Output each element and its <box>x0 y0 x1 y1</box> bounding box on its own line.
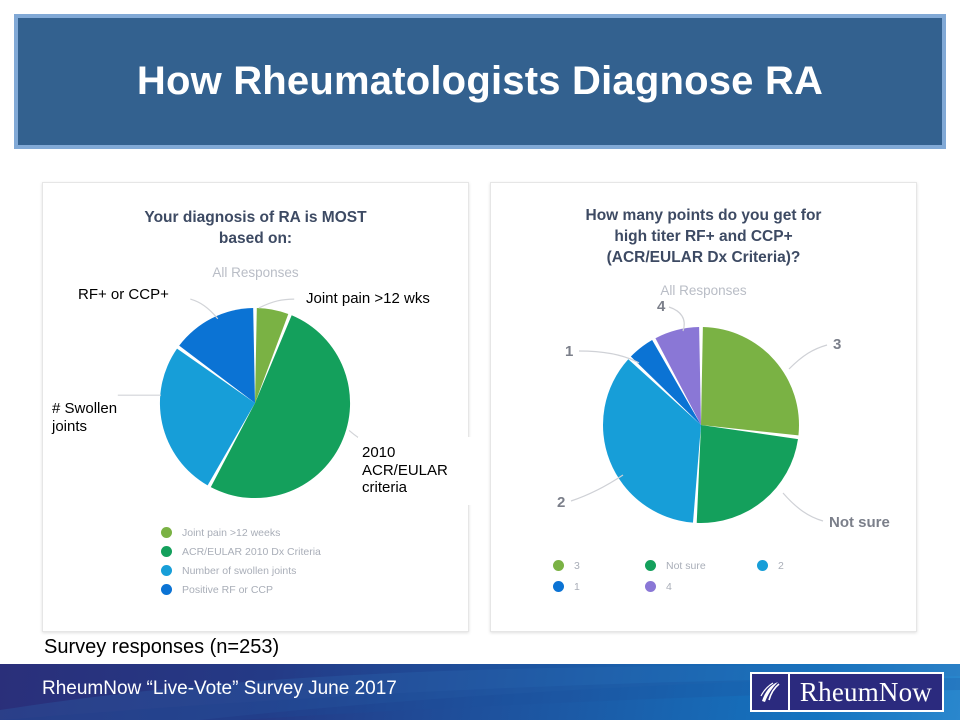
pie-slice <box>701 327 799 435</box>
legend-item-label: Joint pain >12 weeks <box>182 527 280 539</box>
legend-item: Number of swollen joints <box>161 561 321 580</box>
legend-item-label: ACR/EULAR 2010 Dx Criteria <box>182 546 321 558</box>
legend-item: Not sure <box>645 555 757 576</box>
annotation-joint-pain: Joint pain >12 wks <box>306 290 430 308</box>
left-chart-title: Your diagnosis of RA is MOST based on: <box>43 207 468 249</box>
left-pie-chart <box>157 305 353 501</box>
survey-responses-note: Survey responses (n=253) <box>44 636 279 659</box>
slide-footer: RheumNow “Live-Vote” Survey June 2017 Rh… <box>0 664 960 720</box>
legend-color-dot <box>161 565 172 576</box>
swoosh-glyph <box>759 680 781 704</box>
legend-item-label: Number of swollen joints <box>182 565 296 577</box>
right-pie-svg: 3 Not sure 2 1 4 <box>601 325 801 525</box>
legend-color-dot <box>757 560 768 571</box>
legend-color-dot <box>161 584 172 595</box>
right-pie-chart: 3 Not sure 2 1 4 <box>601 325 801 525</box>
legend-item: 4 <box>645 576 757 597</box>
legend-color-dot <box>645 560 656 571</box>
rheumnow-swoosh-icon <box>752 674 790 710</box>
left-chart-title-line1: Your diagnosis of RA is MOST <box>43 207 468 228</box>
legend-color-dot <box>553 560 564 571</box>
legend-item: 2 <box>757 555 827 576</box>
legend-color-dot <box>161 546 172 557</box>
right-chart-legend: 3Not sure214 <box>553 555 853 597</box>
legend-item: 3 <box>553 555 645 576</box>
callout-not-sure: Not sure <box>829 514 890 531</box>
legend-item: Positive RF or CCP <box>161 580 321 599</box>
left-chart-title-line2: based on: <box>43 228 468 249</box>
page-title: How Rheumatologists Diagnose RA <box>137 59 823 104</box>
callout-1: 1 <box>565 343 573 360</box>
annotation-acr-eular: 2010 ACR/EULAR criteria <box>362 444 448 497</box>
legend-item: 1 <box>553 576 645 597</box>
annotation-rf-ccp: RF+ or CCP+ <box>78 286 169 304</box>
callout-2: 2 <box>557 494 565 511</box>
chart-panel-right: How many points do you get for high tite… <box>490 182 917 632</box>
callout-4: 4 <box>657 298 666 315</box>
left-pie-svg <box>157 305 353 501</box>
legend-item: Joint pain >12 weeks <box>161 523 321 542</box>
rheumnow-wordmark: RheumNow <box>790 674 942 710</box>
legend-color-dot <box>553 581 564 592</box>
right-chart-title-line2: high titer RF+ and CCP+ <box>491 226 916 247</box>
legend-item: ACR/EULAR 2010 Dx Criteria <box>161 542 321 561</box>
legend-item-label: 3 <box>574 560 580 572</box>
callout-3: 3 <box>833 336 841 353</box>
left-chart-subtitle: All Responses <box>43 265 468 280</box>
annotation-swollen-joints: # Swollen joints <box>52 400 117 435</box>
right-chart-title-line3: (ACR/EULAR Dx Criteria)? <box>491 247 916 268</box>
legend-item-label: 4 <box>666 581 672 593</box>
left-chart-legend: Joint pain >12 weeksACR/EULAR 2010 Dx Cr… <box>161 523 321 599</box>
legend-color-dot <box>161 527 172 538</box>
right-chart-title: How many points do you get for high tite… <box>491 205 916 268</box>
legend-item-label: 1 <box>574 581 580 593</box>
pie-slice <box>697 425 798 523</box>
slide-title-banner: How Rheumatologists Diagnose RA <box>14 14 946 149</box>
rheumnow-logo[interactable]: RheumNow <box>750 672 944 712</box>
right-chart-title-line1: How many points do you get for <box>491 205 916 226</box>
legend-item-label: 2 <box>778 560 784 572</box>
legend-item-label: Positive RF or CCP <box>182 584 273 596</box>
legend-color-dot <box>645 581 656 592</box>
legend-item-label: Not sure <box>666 560 706 572</box>
footer-caption: RheumNow “Live-Vote” Survey June 2017 <box>42 678 397 700</box>
right-chart-subtitle: All Responses <box>491 283 916 298</box>
